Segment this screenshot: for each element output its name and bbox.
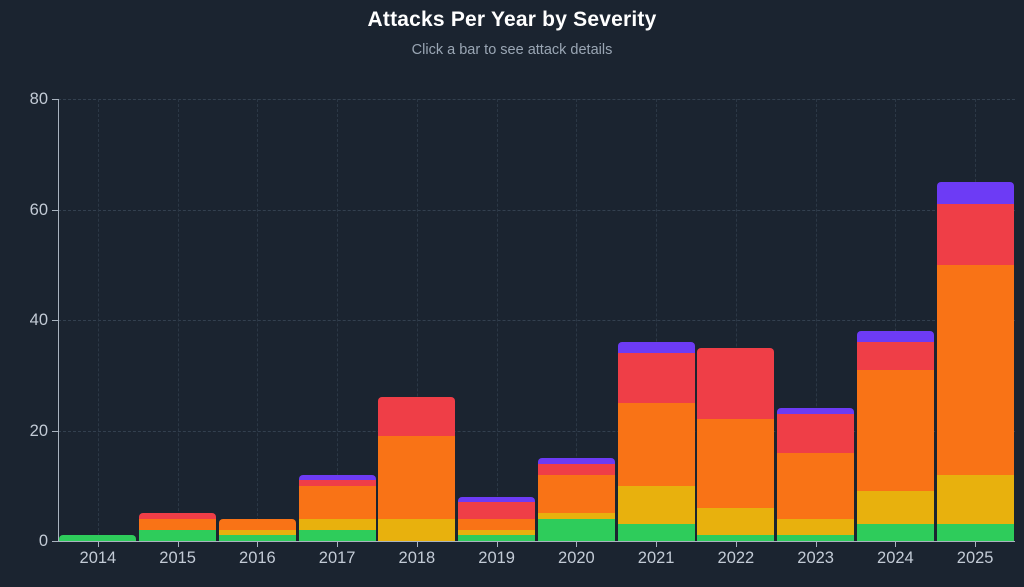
bar-segment-high[interactable]	[618, 403, 695, 486]
x-axis-tick-label: 2024	[877, 549, 914, 568]
bar-segment-medium[interactable]	[937, 475, 1014, 525]
bar-segment-critical[interactable]	[378, 397, 455, 436]
bar-segment-low[interactable]	[697, 535, 774, 541]
bar-segment-high[interactable]	[139, 519, 216, 530]
bar-segment-high[interactable]	[777, 453, 854, 519]
bar-segment-high[interactable]	[697, 419, 774, 507]
bar-segment-low[interactable]	[458, 535, 535, 541]
bar-segment-medium[interactable]	[777, 519, 854, 536]
x-axis-tick-label: 2021	[638, 549, 675, 568]
vertical-grid-line	[257, 99, 258, 541]
bar-segment-low[interactable]	[299, 530, 376, 541]
chart-header: Attacks Per Year by Severity Click a bar…	[0, 0, 1024, 60]
bar-segment-critical[interactable]	[458, 502, 535, 519]
y-axis-tick-label: 40	[0, 312, 48, 329]
grid-line	[58, 320, 1015, 321]
grid-line	[58, 210, 1015, 211]
bar-segment-low[interactable]	[777, 535, 854, 541]
bar-2014[interactable]	[59, 535, 136, 541]
y-axis-tick-mark	[52, 320, 58, 321]
y-axis-tick-mark	[52, 431, 58, 432]
x-axis-tick-mark	[975, 541, 976, 547]
x-axis-tick-mark	[257, 541, 258, 547]
bar-segment-critical[interactable]	[777, 414, 854, 453]
bar-segment-low[interactable]	[538, 519, 615, 541]
x-axis-tick-mark	[337, 541, 338, 547]
bar-2021[interactable]	[618, 342, 695, 541]
bar-segment-high[interactable]	[538, 475, 615, 514]
x-axis-tick-mark	[816, 541, 817, 547]
x-axis-tick-mark	[656, 541, 657, 547]
bar-segment-low[interactable]	[857, 524, 934, 541]
bar-segment-critical[interactable]	[697, 348, 774, 420]
vertical-grid-line	[178, 99, 179, 541]
x-axis-tick-label: 2022	[718, 549, 755, 568]
grid-line	[58, 99, 1015, 100]
bar-2020[interactable]	[538, 458, 615, 541]
bar-segment-high[interactable]	[299, 486, 376, 519]
y-axis-line	[58, 99, 59, 541]
bar-segment-high[interactable]	[937, 265, 1014, 475]
bar-2017[interactable]	[299, 475, 376, 541]
y-axis-tick-label: 0	[0, 533, 48, 550]
bar-segment-medium[interactable]	[378, 519, 455, 541]
bar-segment-catastrophic[interactable]	[618, 342, 695, 353]
y-axis-tick-label: 80	[0, 91, 48, 108]
bar-segment-medium[interactable]	[697, 508, 774, 536]
bar-segment-critical[interactable]	[857, 342, 934, 370]
bar-segment-low[interactable]	[618, 524, 695, 541]
x-axis-tick-label: 2016	[239, 549, 276, 568]
bar-segment-low[interactable]	[139, 530, 216, 541]
chart-title: Attacks Per Year by Severity	[0, 7, 1024, 33]
bar-segment-low[interactable]	[219, 535, 296, 541]
bar-segment-critical[interactable]	[618, 353, 695, 403]
x-axis-tick-mark	[98, 541, 99, 547]
bar-segment-high[interactable]	[378, 436, 455, 519]
bar-2019[interactable]	[458, 497, 535, 541]
x-axis-tick-mark	[417, 541, 418, 547]
y-axis-tick-mark	[52, 210, 58, 211]
bar-segment-medium[interactable]	[618, 486, 695, 525]
x-axis-tick-mark	[736, 541, 737, 547]
y-axis-tick-label: 60	[0, 201, 48, 218]
bar-2025[interactable]	[937, 182, 1014, 541]
bar-segment-critical[interactable]	[538, 464, 615, 475]
x-axis-tick-mark	[178, 541, 179, 547]
vertical-grid-line	[497, 99, 498, 541]
x-axis-tick-label: 2015	[159, 549, 196, 568]
bar-2016[interactable]	[219, 519, 296, 541]
x-axis-tick-label: 2025	[957, 549, 994, 568]
y-axis-tick-label: 20	[0, 422, 48, 439]
y-axis-tick-mark	[52, 541, 58, 542]
y-axis-tick-mark	[52, 99, 58, 100]
bar-segment-high[interactable]	[458, 519, 535, 530]
bar-2018[interactable]	[378, 397, 455, 541]
x-axis-tick-label: 2020	[558, 549, 595, 568]
x-axis-tick-label: 2023	[797, 549, 834, 568]
x-axis-tick-mark	[497, 541, 498, 547]
bar-2024[interactable]	[857, 331, 934, 541]
x-axis-tick-label: 2019	[478, 549, 515, 568]
bar-2022[interactable]	[697, 348, 774, 541]
x-axis-tick-label: 2018	[399, 549, 436, 568]
bar-segment-medium[interactable]	[299, 519, 376, 530]
bar-segment-low[interactable]	[59, 535, 136, 541]
vertical-grid-line	[98, 99, 99, 541]
x-axis-tick-label: 2017	[319, 549, 356, 568]
chart-subtitle: Click a bar to see attack details	[0, 40, 1024, 60]
x-axis-tick-mark	[576, 541, 577, 547]
bar-2015[interactable]	[139, 513, 216, 541]
x-axis-tick-mark	[895, 541, 896, 547]
bar-segment-catastrophic[interactable]	[937, 182, 1014, 204]
bar-segment-high[interactable]	[857, 370, 934, 492]
bar-segment-critical[interactable]	[937, 204, 1014, 265]
bar-segment-catastrophic[interactable]	[857, 331, 934, 342]
chart-plot-area: Attacks Per Year by Severity Click a bar…	[0, 0, 1024, 587]
x-axis-line	[58, 541, 1015, 542]
bar-segment-medium[interactable]	[857, 491, 934, 524]
bar-segment-low[interactable]	[937, 524, 1014, 541]
bar-segment-high[interactable]	[219, 519, 296, 530]
bar-2023[interactable]	[777, 408, 854, 541]
x-axis-tick-label: 2014	[80, 549, 117, 568]
